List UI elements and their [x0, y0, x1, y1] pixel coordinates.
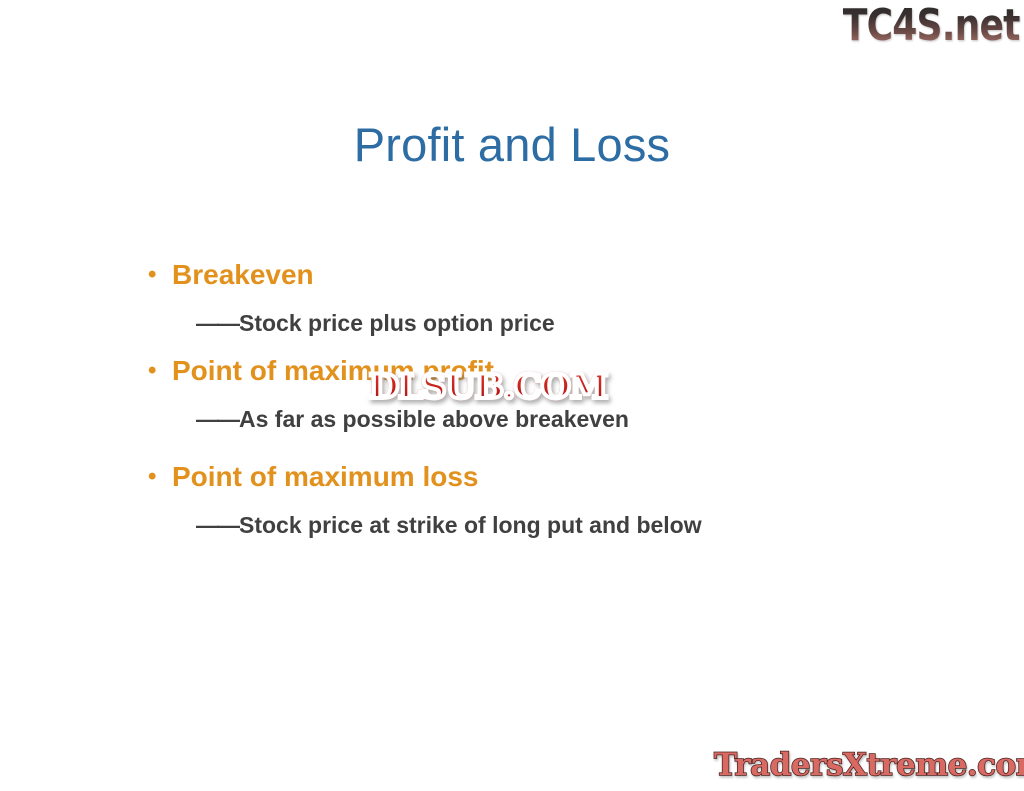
sub-bullet-max-loss-0: —— Stock price at strike of long put and… [196, 506, 908, 544]
tradersxtreme-watermark: TradersXtreme.com [714, 745, 1024, 785]
page-title: Profit and Loss [0, 117, 1024, 173]
bullet-label: Point of maximum loss [172, 458, 479, 496]
bullet-group-max-loss: • Point of maximum loss —— Stock price a… [148, 458, 908, 544]
spacer [148, 342, 908, 352]
tc4s-logo: TC4S.net [843, 2, 1020, 50]
dlsub-watermark: DLSUB.COM [369, 367, 607, 407]
spacer [148, 438, 908, 458]
bullet-dot-icon: • [148, 352, 172, 390]
em-dash-icon: —— [196, 304, 238, 342]
dlsub-watermark-text: DLSUB.COM [369, 367, 607, 407]
slide-canvas: TC4S.net Profit and Loss • Breakeven —— … [0, 0, 1024, 791]
bullet-item-max-loss: • Point of maximum loss [148, 458, 908, 496]
sub-bullet-label: Stock price plus option price [239, 304, 555, 342]
bullet-item-breakeven: • Breakeven [148, 256, 908, 294]
sub-bullet-label: Stock price at strike of long put and be… [239, 506, 702, 544]
em-dash-icon: —— [196, 400, 238, 438]
sub-bullet-breakeven-0: —— Stock price plus option price [196, 304, 908, 342]
spacer [148, 294, 908, 304]
bullet-group-breakeven: • Breakeven —— Stock price plus option p… [148, 256, 908, 342]
bullet-dot-icon: • [148, 458, 172, 496]
bullet-label: Breakeven [172, 256, 314, 294]
em-dash-icon: —— [196, 506, 238, 544]
bullet-dot-icon: • [148, 256, 172, 294]
spacer [148, 496, 908, 506]
